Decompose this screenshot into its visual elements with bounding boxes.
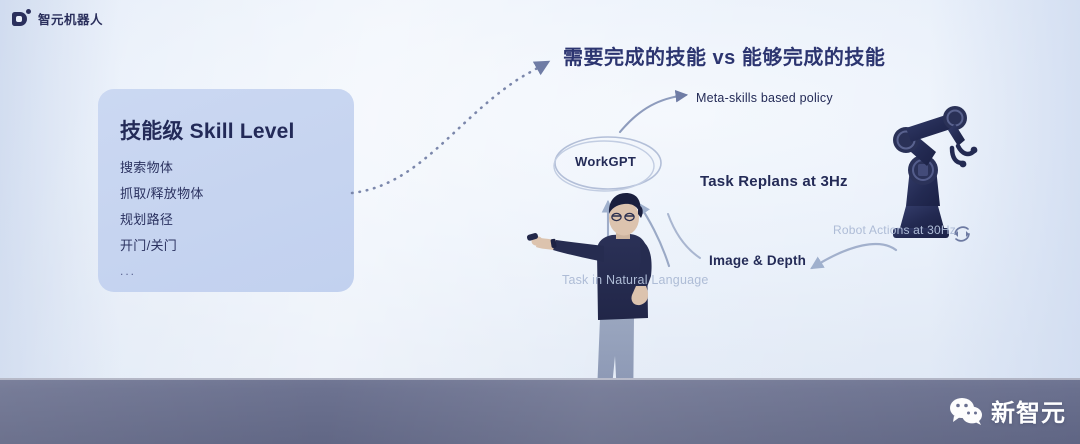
arrow-robot-actions	[812, 244, 896, 268]
watermark: 新智元	[949, 393, 1066, 428]
stage-floor	[0, 378, 1080, 444]
image-depth-label: Image & Depth	[709, 252, 806, 270]
dotted-curved-arrow-icon	[352, 62, 548, 193]
robot-arm-icon	[893, 106, 977, 238]
brand-logo: 智元机器人	[12, 9, 103, 28]
zhiyuan-d-logo-icon	[12, 9, 31, 28]
task-natural-language-label: Task in Natural Language	[562, 272, 709, 289]
meta-skills-label: Meta-skills based policy	[696, 90, 833, 107]
watermark-text: 新智元	[991, 393, 1066, 428]
arrow-to-meta-skills	[620, 95, 686, 132]
brand-name: 智元机器人	[38, 9, 103, 28]
wechat-icon	[949, 397, 983, 425]
workgpt-node-label: WorkGPT	[575, 154, 636, 169]
refresh-cycle-icon	[955, 227, 969, 241]
wall-floor-seam	[0, 378, 1080, 380]
curve-image-depth	[668, 214, 700, 258]
robot-actions-label: Robot Actions at 30Hz	[833, 222, 956, 238]
task-replans-label: Task Replans at 3Hz	[700, 172, 848, 192]
presentation-screenshot: 智元机器人 技能级 Skill Level 搜索物体 抓取/释放物体 规划路径 …	[0, 0, 1080, 444]
